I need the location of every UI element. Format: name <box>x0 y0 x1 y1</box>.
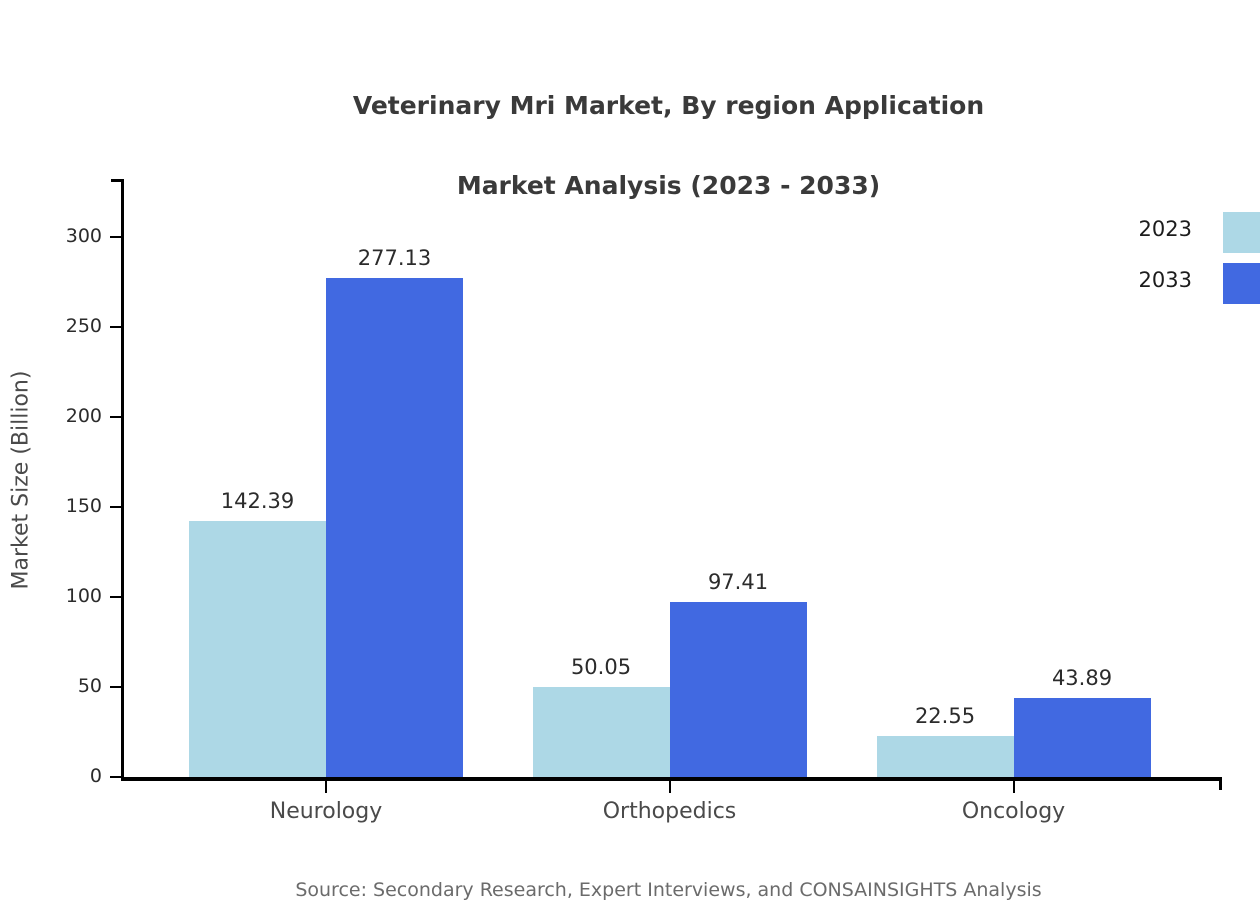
bar-label-neurology-2023: 142.39 <box>221 491 294 512</box>
legend-item-2023[interactable]: 2023 <box>1110 212 1260 256</box>
bar-label-orthopedics-2023: 50.05 <box>571 657 631 678</box>
chart-title-line-1: Veterinary Mri Market, By region Applica… <box>353 91 984 120</box>
y-tick-100 <box>110 596 122 598</box>
x-tick-label-neurology: Neurology <box>270 799 383 825</box>
x-axis-spine <box>121 777 1222 781</box>
plot-area: Market Size (Billion) 050100150200250300… <box>121 179 1222 780</box>
x-tick-label-orthopedics: Orthopedics <box>603 799 737 825</box>
legend-label-2033: 2033 <box>1139 268 1192 292</box>
chart-figure: Veterinary Mri Market, By region Applica… <box>0 0 1260 920</box>
x-tick-orthopedics <box>669 780 671 793</box>
y-tick-label-250: 250 <box>0 317 102 336</box>
chart-legend: 20232033 <box>1110 212 1260 312</box>
y-tick-label-0: 0 <box>0 767 102 786</box>
x-tick-label-oncology: Oncology <box>962 799 1065 825</box>
source-note: Source: Secondary Research, Expert Inter… <box>0 878 1260 902</box>
y-axis-title: Market Size (Billion) <box>9 370 34 589</box>
bar-oncology-2033[interactable] <box>1014 698 1151 777</box>
y-tick-50 <box>110 686 122 688</box>
legend-swatch-2033 <box>1223 263 1260 304</box>
y-tick-label-200: 200 <box>0 407 102 426</box>
bar-label-orthopedics-2033: 97.41 <box>708 572 768 593</box>
y-tick-300 <box>110 236 122 238</box>
y-tick-label-150: 150 <box>0 497 102 516</box>
y-tick-label-100: 100 <box>0 587 102 606</box>
y-tick-250 <box>110 326 122 328</box>
bar-orthopedics-2023[interactable] <box>533 687 670 777</box>
x-axis-right-cap <box>1219 777 1222 790</box>
bar-neurology-2033[interactable] <box>326 278 463 777</box>
x-tick-neurology <box>325 780 327 793</box>
y-tick-label-300: 300 <box>0 227 102 246</box>
bar-label-neurology-2033: 277.13 <box>358 248 431 269</box>
y-tick-label-50: 50 <box>0 677 102 696</box>
bar-oncology-2023[interactable] <box>877 736 1014 777</box>
bar-neurology-2023[interactable] <box>189 521 326 777</box>
legend-label-2023: 2023 <box>1139 217 1192 241</box>
x-tick-oncology <box>1013 780 1015 793</box>
legend-swatch-2023 <box>1223 212 1260 253</box>
legend-item-2033[interactable]: 2033 <box>1110 263 1260 307</box>
y-tick-200 <box>110 416 122 418</box>
bar-orthopedics-2033[interactable] <box>670 602 807 777</box>
y-tick-0 <box>110 776 122 778</box>
bar-label-oncology-2033: 43.89 <box>1052 668 1112 689</box>
y-tick-150 <box>110 506 122 508</box>
bar-label-oncology-2023: 22.55 <box>915 706 975 727</box>
y-axis-spine <box>121 179 124 780</box>
y-axis-top-cap <box>111 179 124 182</box>
